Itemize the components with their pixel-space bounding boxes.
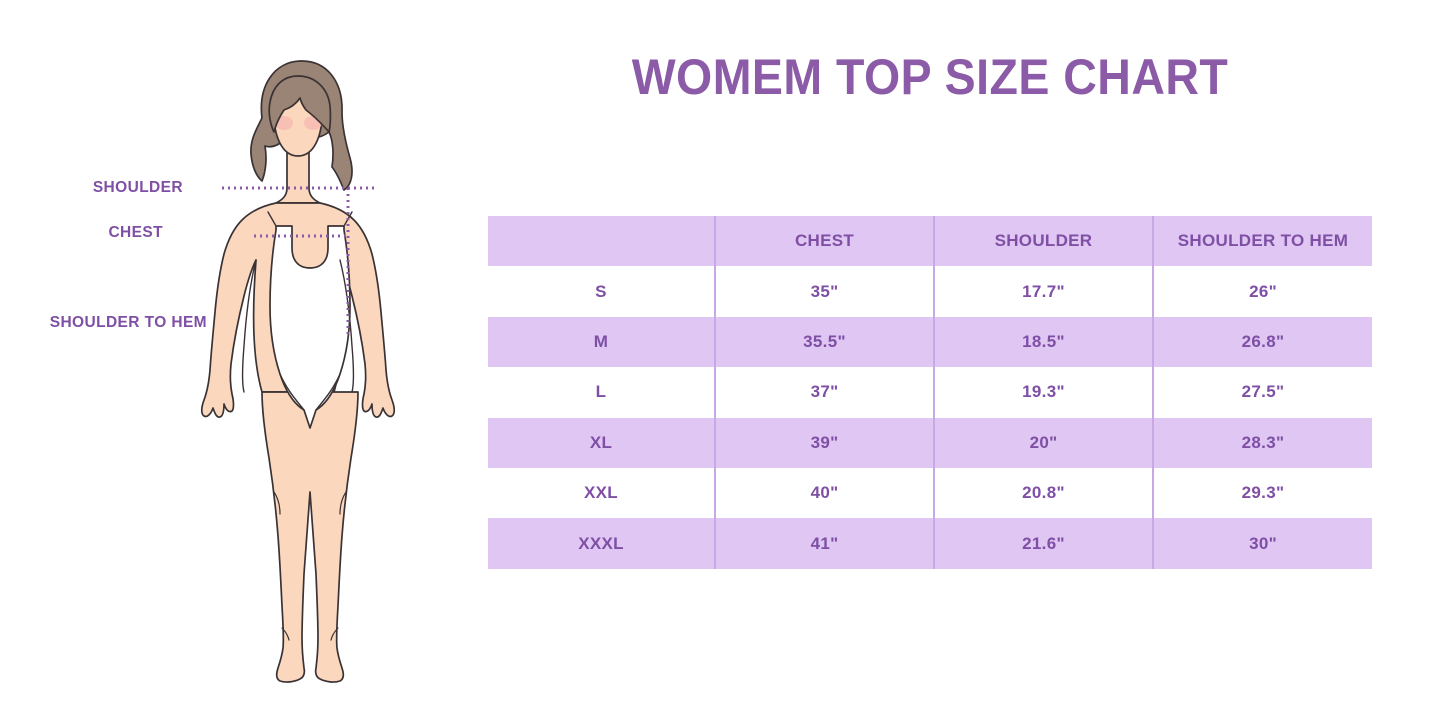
shoulder-cell: 19.3" bbox=[934, 367, 1153, 417]
table-row: M35.5"18.5"26.8" bbox=[488, 317, 1372, 367]
size-cell: XL bbox=[488, 418, 715, 468]
shoulder-cell: 20" bbox=[934, 418, 1153, 468]
column-header-size bbox=[488, 216, 715, 266]
shoulder-to-hem-cell: 26.8" bbox=[1153, 317, 1372, 367]
measurement-label-shoulder: SHOULDER bbox=[93, 179, 183, 197]
table-row: XXL40"20.8"29.3" bbox=[488, 468, 1372, 518]
shoulder-to-hem-cell: 28.3" bbox=[1153, 418, 1372, 468]
shoulder-cell: 21.6" bbox=[934, 518, 1153, 568]
table-row: XL39"20"28.3" bbox=[488, 418, 1372, 468]
table-row: XXXL41"21.6"30" bbox=[488, 518, 1372, 568]
size-cell: L bbox=[488, 367, 715, 417]
size-cell: XXL bbox=[488, 468, 715, 518]
table-row: L37"19.3"27.5" bbox=[488, 367, 1372, 417]
shoulder-to-hem-cell: 27.5" bbox=[1153, 367, 1372, 417]
shoulder-to-hem-cell: 29.3" bbox=[1153, 468, 1372, 518]
table-header-row: CHEST SHOULDER SHOULDER TO HEM bbox=[488, 216, 1372, 266]
column-header-shoulder-to-hem: SHOULDER TO HEM bbox=[1153, 216, 1372, 266]
column-header-chest: CHEST bbox=[715, 216, 934, 266]
size-cell: XXXL bbox=[488, 518, 715, 568]
chest-cell: 35.5" bbox=[715, 317, 934, 367]
page-title: WOMEM TOP SIZE CHART bbox=[519, 48, 1341, 106]
chest-cell: 41" bbox=[715, 518, 934, 568]
measurement-label-shoulder-to-hem: SHOULDER TO HEM bbox=[50, 314, 207, 332]
table-row: S35"17.7"26" bbox=[488, 266, 1372, 316]
size-cell: S bbox=[488, 266, 715, 316]
shoulder-to-hem-cell: 26" bbox=[1153, 266, 1372, 316]
size-chart-table: CHEST SHOULDER SHOULDER TO HEM S35"17.7"… bbox=[488, 216, 1372, 569]
column-header-shoulder: SHOULDER bbox=[934, 216, 1153, 266]
shoulder-to-hem-cell: 30" bbox=[1153, 518, 1372, 568]
chest-cell: 37" bbox=[715, 367, 934, 417]
legs-shape bbox=[262, 392, 358, 682]
shoulder-cell: 18.5" bbox=[934, 317, 1153, 367]
chest-cell: 35" bbox=[715, 266, 934, 316]
shoulder-cell: 17.7" bbox=[934, 266, 1153, 316]
measurement-label-chest: CHEST bbox=[108, 224, 163, 242]
size-cell: M bbox=[488, 317, 715, 367]
chest-cell: 39" bbox=[715, 418, 934, 468]
chest-cell: 40" bbox=[715, 468, 934, 518]
shoulder-cell: 20.8" bbox=[934, 468, 1153, 518]
female-body-illustration bbox=[170, 40, 430, 690]
neck-shape bbox=[276, 150, 320, 203]
